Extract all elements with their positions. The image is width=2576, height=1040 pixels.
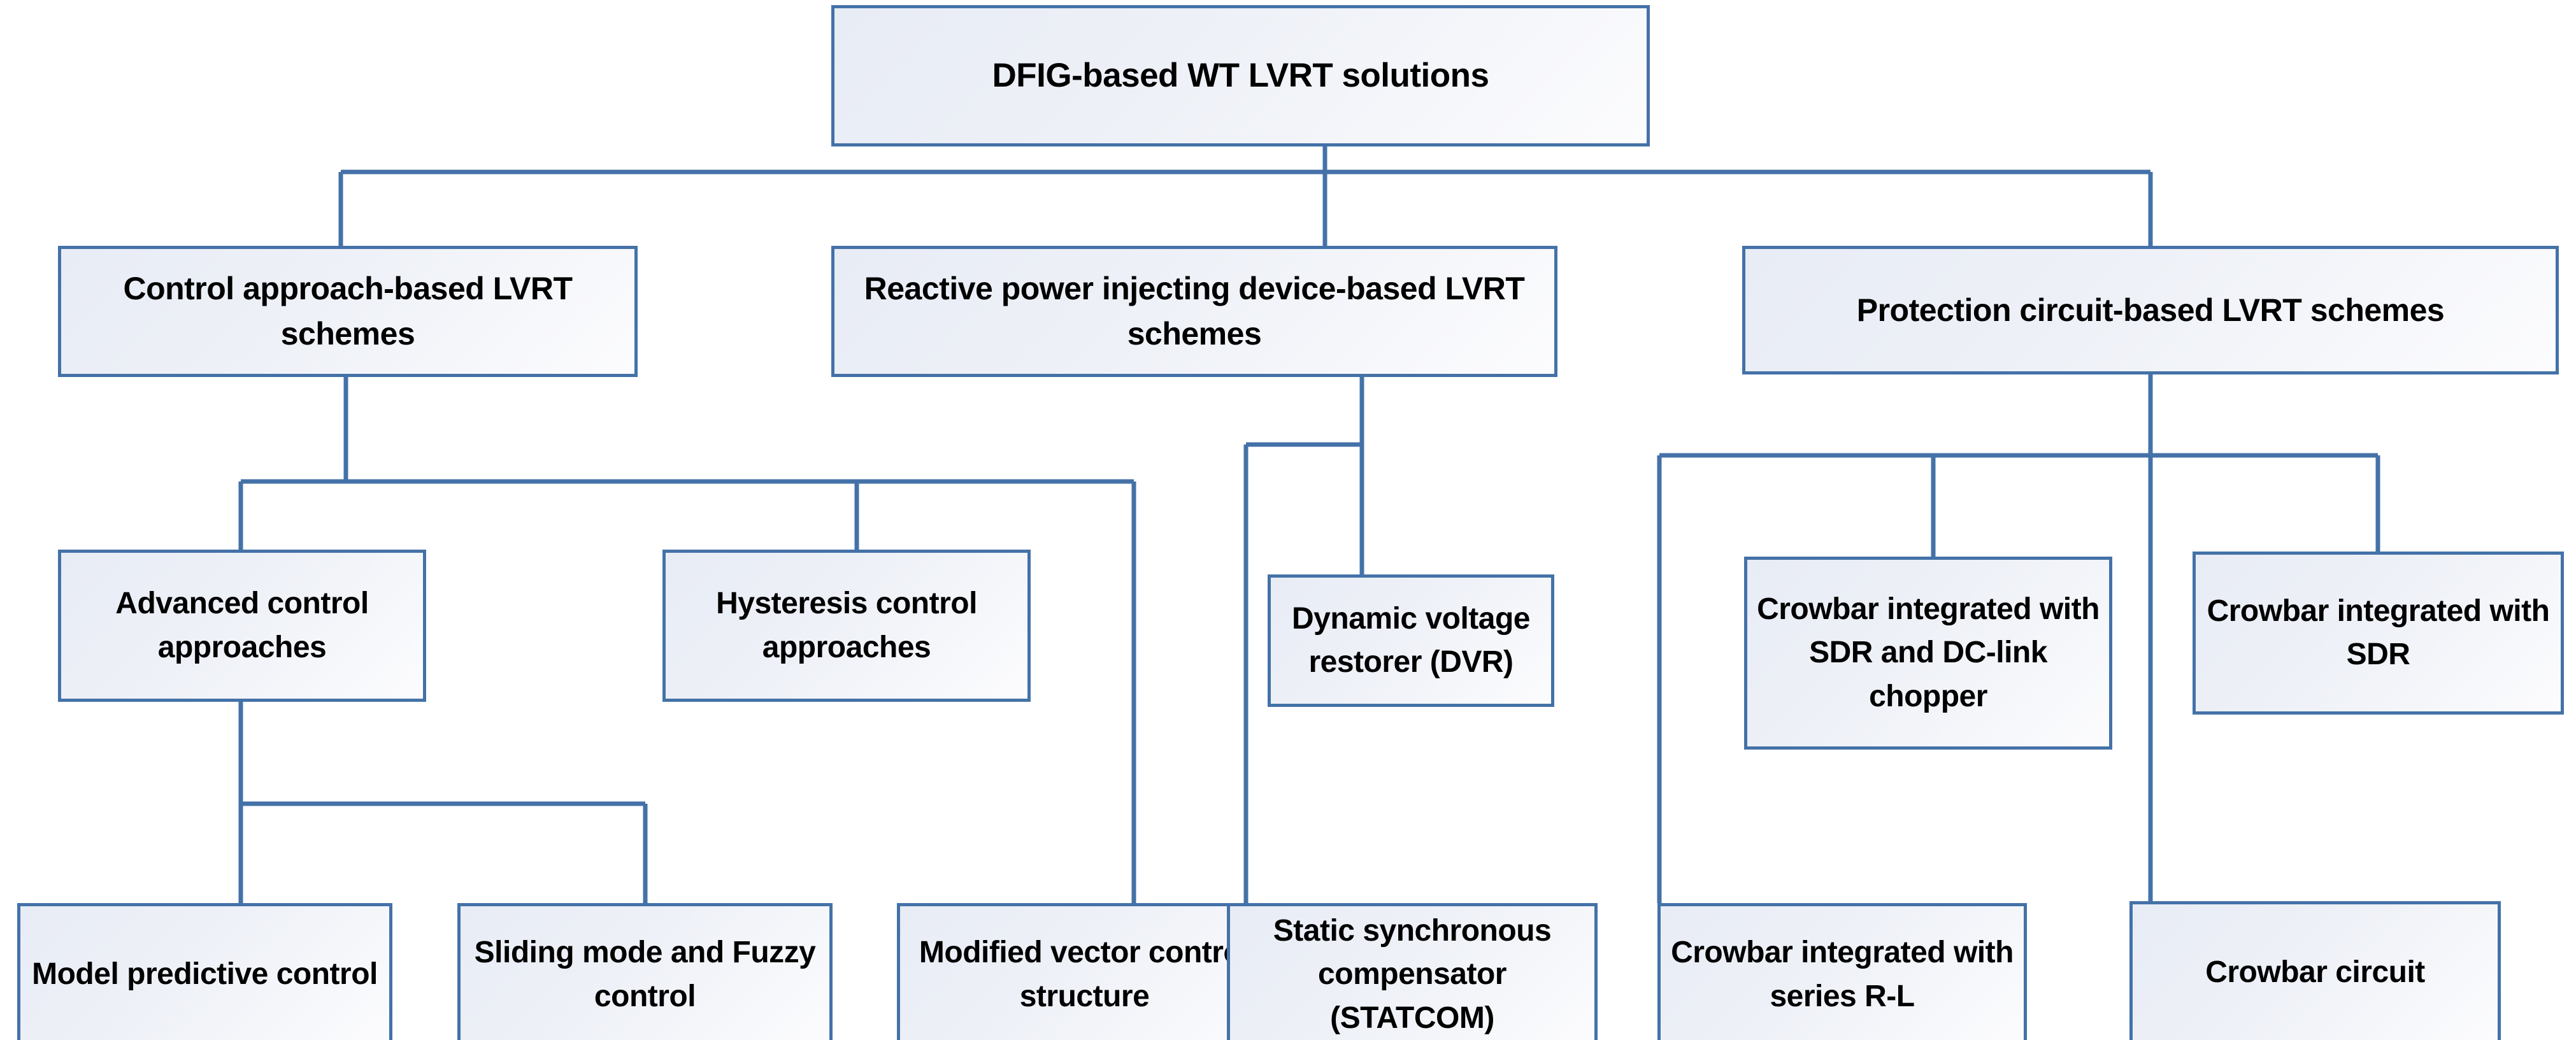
node-crowbar-sdr[interactable]: Crowbar integrated with SDR (2193, 552, 2564, 715)
node-control-approach-label: Control approach-based LVRT schemes (68, 266, 628, 357)
node-modified-vector[interactable]: Modified vector control structure (897, 903, 1272, 1040)
node-crowbar-series-rl[interactable]: Crowbar integrated with series R-L (1657, 903, 2027, 1040)
node-statcom-label: Static synchronous compensator (STATCOM) (1236, 909, 1588, 1039)
node-hysteresis-control[interactable]: Hysteresis control approaches (662, 550, 1031, 702)
node-sliding-fuzzy[interactable]: Sliding mode and Fuzzy control (457, 903, 833, 1040)
node-dvr[interactable]: Dynamic voltage restorer (DVR) (1268, 574, 1554, 707)
node-crowbar-sdr-label: Crowbar integrated with SDR (2202, 590, 2554, 676)
connector-lines (0, 0, 2576, 1040)
node-root-label: DFIG-based WT LVRT solutions (841, 52, 1640, 99)
node-protection-circuit-label: Protection circuit-based LVRT schemes (1752, 288, 2549, 333)
node-sliding-fuzzy-label: Sliding mode and Fuzzy control (467, 931, 823, 1018)
node-protection-circuit[interactable]: Protection circuit-based LVRT schemes (1742, 246, 2559, 374)
node-dvr-label: Dynamic voltage restorer (DVR) (1277, 597, 1545, 684)
node-crowbar-sdr-dclink-label: Crowbar integrated with SDR and DC-link … (1754, 588, 2103, 718)
node-crowbar-circuit[interactable]: Crowbar circuit (2129, 901, 2501, 1040)
node-crowbar-sdr-dclink[interactable]: Crowbar integrated with SDR and DC-link … (1744, 557, 2112, 750)
node-control-approach[interactable]: Control approach-based LVRT schemes (58, 246, 638, 377)
diagram-canvas: DFIG-based WT LVRT solutions Control app… (0, 0, 2576, 1040)
node-reactive-power-label: Reactive power injecting device-based LV… (841, 266, 1548, 357)
node-hysteresis-control-label: Hysteresis control approaches (672, 582, 1021, 669)
node-root[interactable]: DFIG-based WT LVRT solutions (831, 5, 1650, 146)
node-model-predictive-label: Model predictive control (27, 953, 383, 996)
node-crowbar-circuit-label: Crowbar circuit (2139, 951, 2491, 994)
node-advanced-control-label: Advanced control approaches (68, 582, 417, 669)
node-crowbar-series-rl-label: Crowbar integrated with series R-L (1667, 931, 2017, 1018)
node-modified-vector-label: Modified vector control structure (906, 931, 1263, 1018)
node-statcom[interactable]: Static synchronous compensator (STATCOM) (1227, 903, 1598, 1040)
node-advanced-control[interactable]: Advanced control approaches (58, 550, 426, 702)
node-reactive-power[interactable]: Reactive power injecting device-based LV… (831, 246, 1557, 377)
node-model-predictive[interactable]: Model predictive control (17, 903, 392, 1040)
